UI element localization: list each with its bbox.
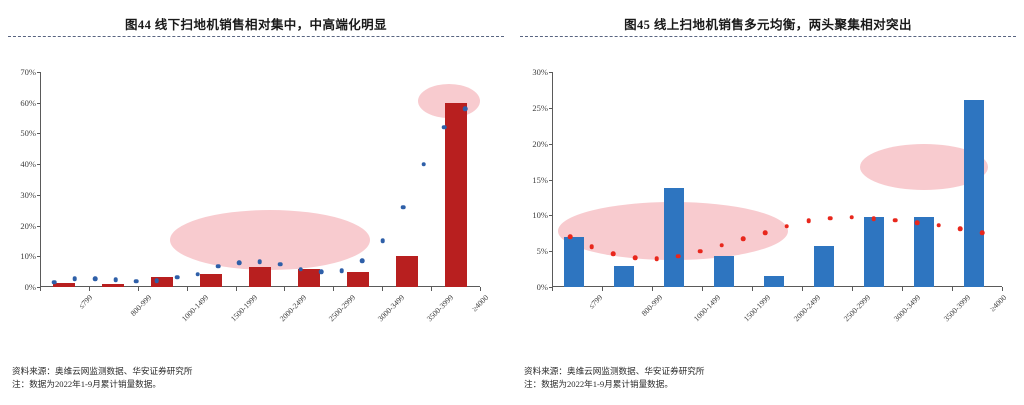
curve-point	[93, 276, 98, 281]
y-tick-label: 30%	[532, 67, 548, 77]
bar-7	[914, 217, 934, 287]
x-tick-mark	[702, 287, 703, 291]
curve-point	[741, 237, 746, 242]
curve-point	[850, 215, 855, 220]
x-axis-label: ≥4000	[469, 293, 489, 313]
curve-point	[915, 220, 920, 225]
y-tick-mark	[37, 103, 41, 104]
curve-point	[785, 224, 790, 229]
curve-point	[719, 243, 724, 248]
bar-1	[614, 266, 634, 288]
y-tick-mark	[37, 226, 41, 227]
curve-point	[654, 257, 659, 262]
y-tick-mark	[549, 180, 553, 181]
curve-point	[298, 267, 303, 272]
y-tick-label: 0%	[537, 282, 548, 292]
curve-point	[871, 217, 876, 222]
x-tick-mark	[431, 287, 432, 291]
y-tick-mark	[549, 108, 553, 109]
x-axis-label: 1000-1499	[180, 293, 210, 323]
curve-point	[806, 219, 811, 224]
figure-44-note: 注：数据为2022年1-9月累计销量数据。	[12, 378, 192, 391]
y-tick-label: 50%	[20, 128, 36, 138]
y-tick-mark	[549, 72, 553, 73]
x-tick-mark	[138, 287, 139, 291]
figure-45-plot-area: 0%5%10%15%20%25%30%≤799800-9991000-14991…	[552, 72, 1002, 287]
y-tick-label: 10%	[20, 251, 36, 261]
figure-45-note: 注：数据为2022年1-9月累计销量数据。	[524, 378, 704, 391]
bar-3	[200, 274, 222, 287]
x-tick-mark	[602, 287, 603, 291]
figure-45-footer: 资料来源：奥维云网监测数据、华安证券研究所 注：数据为2022年1-9月累计销量…	[524, 365, 704, 391]
curve-point	[52, 280, 57, 285]
y-tick-mark	[37, 133, 41, 134]
x-tick-mark	[89, 287, 90, 291]
curve-point	[319, 269, 324, 274]
x-axis-label: 1500-1999	[229, 293, 259, 323]
x-axis-label: 1500-1999	[742, 293, 772, 323]
y-tick-mark	[37, 195, 41, 196]
figure-44-title: 图44 线下扫地机销售相对集中，中高端化明显	[0, 14, 512, 33]
x-tick-mark	[652, 287, 653, 291]
x-axis-label: 3000-3499	[892, 293, 922, 323]
curve-point	[196, 272, 201, 277]
curve-point	[763, 230, 768, 235]
curve-point	[422, 162, 427, 167]
curve-point	[676, 254, 681, 259]
y-tick-label: 5%	[537, 246, 548, 256]
y-tick-label: 20%	[20, 221, 36, 231]
figure-44-footer: 资料来源：奥维云网监测数据、华安证券研究所 注：数据为2022年1-9月累计销量…	[12, 365, 192, 391]
bar-0	[53, 283, 75, 287]
curve-point	[237, 261, 242, 266]
bar-3	[714, 256, 734, 287]
curve-point	[154, 279, 159, 284]
bar-1	[102, 284, 124, 287]
figure-44-divider	[8, 36, 504, 37]
figure-panel-45: 图45 线上扫地机销售多元均衡，两头聚集相对突出 0%5%10%15%20%25…	[512, 0, 1024, 405]
curve-point	[134, 279, 139, 284]
x-axis-label: 2000-2499	[792, 293, 822, 323]
y-tick-mark	[549, 215, 553, 216]
x-tick-mark	[952, 287, 953, 291]
curve-point	[698, 249, 703, 254]
bar-4	[249, 267, 271, 287]
y-tick-mark	[549, 251, 553, 252]
x-axis-label: 2000-2499	[278, 293, 308, 323]
curve-point	[611, 252, 616, 257]
curve-point	[568, 235, 573, 240]
x-axis-label: 1000-1499	[692, 293, 722, 323]
x-axis-label: 2500-2999	[842, 293, 872, 323]
x-tick-mark	[187, 287, 188, 291]
curve-point	[633, 255, 638, 260]
bar-0	[564, 237, 584, 287]
bar-6	[347, 272, 369, 287]
curve-point	[893, 218, 898, 223]
x-tick-mark	[902, 287, 903, 291]
curve-point	[381, 239, 386, 244]
figure-panel-44: 图44 线下扫地机销售相对集中，中高端化明显 0%10%20%30%40%50%…	[0, 0, 512, 405]
x-axis-label: ≥4000	[988, 293, 1008, 313]
curve-point	[72, 277, 77, 282]
y-tick-label: 10%	[532, 210, 548, 220]
curve-point	[401, 205, 406, 210]
x-axis-label: ≤799	[587, 293, 605, 311]
bar-5	[814, 246, 834, 287]
curve-point	[936, 223, 941, 228]
figure-44-plot-area: 0%10%20%30%40%50%60%70%≤799800-9991000-1…	[40, 72, 480, 287]
y-tick-label: 70%	[20, 67, 36, 77]
curve-point	[980, 230, 985, 235]
curve-point	[113, 278, 118, 283]
x-tick-mark	[40, 287, 41, 291]
x-tick-mark	[382, 287, 383, 291]
x-axis-label: 2500-2999	[327, 293, 357, 323]
y-tick-mark	[549, 144, 553, 145]
x-tick-mark	[852, 287, 853, 291]
y-tick-label: 0%	[25, 282, 36, 292]
bar-2	[664, 188, 684, 287]
x-tick-mark	[333, 287, 334, 291]
y-tick-mark	[37, 164, 41, 165]
curve-point	[360, 259, 365, 264]
bar-4	[764, 276, 784, 287]
x-axis-label: 800-999	[129, 293, 154, 318]
x-tick-mark	[236, 287, 237, 291]
bar-8	[445, 103, 467, 287]
curve-point	[589, 245, 594, 250]
curve-point	[175, 275, 180, 280]
y-tick-mark	[37, 256, 41, 257]
y-tick-label: 20%	[532, 139, 548, 149]
curve-point	[278, 262, 283, 267]
y-tick-label: 60%	[20, 98, 36, 108]
curve-point	[442, 125, 447, 130]
x-tick-mark	[284, 287, 285, 291]
x-tick-mark	[480, 287, 481, 291]
y-axis-line	[40, 72, 41, 287]
bar-7	[396, 256, 418, 287]
x-axis-label: 3500-3999	[942, 293, 972, 323]
curve-point	[257, 260, 262, 265]
x-tick-mark	[752, 287, 753, 291]
bar-5	[298, 269, 320, 287]
y-axis-line	[552, 72, 553, 287]
y-tick-label: 40%	[20, 159, 36, 169]
x-axis-label: ≤799	[77, 293, 95, 311]
figure-45-title: 图45 线上扫地机销售多元均衡，两头聚集相对突出	[512, 14, 1024, 33]
figure-44-source: 资料来源：奥维云网监测数据、华安证券研究所	[12, 365, 192, 378]
y-tick-label: 30%	[20, 190, 36, 200]
curve-point	[339, 268, 344, 273]
y-tick-mark	[37, 72, 41, 73]
curve-point	[828, 216, 833, 221]
x-tick-mark	[552, 287, 553, 291]
x-tick-mark	[802, 287, 803, 291]
y-tick-label: 15%	[532, 175, 548, 185]
curve-point	[216, 264, 221, 269]
bar-8	[964, 100, 984, 287]
figure-45-source: 资料来源：奥维云网监测数据、华安证券研究所	[524, 365, 704, 378]
figure-45-divider	[520, 36, 1016, 37]
report-figure-page: 图44 线下扫地机销售相对集中，中高端化明显 0%10%20%30%40%50%…	[0, 0, 1024, 405]
x-axis-label: 3000-3499	[376, 293, 406, 323]
highlight-ellipse	[170, 210, 370, 270]
x-tick-mark	[1002, 287, 1003, 291]
bar-6	[864, 217, 884, 287]
x-axis-label: 800-999	[640, 293, 665, 318]
y-tick-label: 25%	[532, 103, 548, 113]
curve-point	[958, 227, 963, 232]
x-axis-label: 3500-3999	[425, 293, 455, 323]
curve-point	[463, 107, 468, 112]
